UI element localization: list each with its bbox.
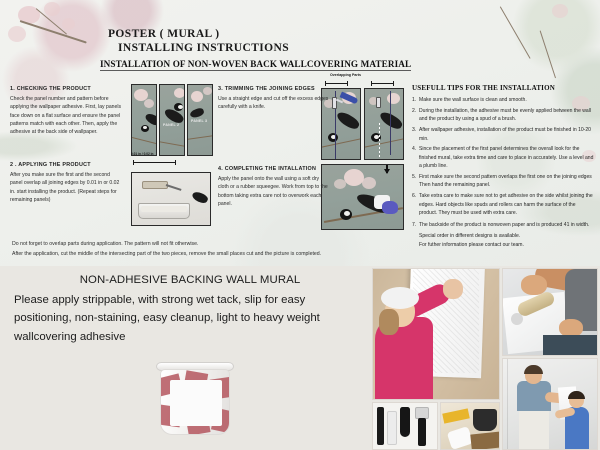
- photo-paste-bucket-and-tools: [440, 402, 500, 450]
- blossom-shape: [203, 87, 212, 95]
- blossom-shape: [387, 93, 400, 104]
- tip-item: 4.Since the placement of the first panel…: [412, 145, 594, 170]
- tip-number: 2.: [412, 107, 419, 115]
- photo-installation-tools-set: [372, 402, 438, 450]
- photo-collage: [372, 268, 598, 448]
- promo-headline: NON-ADHESIVE BACKING WALL MURAL: [14, 274, 366, 286]
- tip-number: 6.: [412, 192, 419, 200]
- tip-number: 1.: [412, 96, 419, 104]
- roller-handle-shape: [166, 184, 182, 191]
- tip-text: Take extra care to make sure not to get …: [419, 193, 593, 216]
- tip-number: 5.: [412, 173, 419, 181]
- photo-hands-rolling-wallpaper: [502, 268, 598, 356]
- step-2-body: After you make sure the first and the se…: [10, 171, 122, 204]
- twig-shape: [187, 135, 213, 140]
- tips-list: 1.Make sure the wall surface is clean an…: [412, 96, 594, 249]
- bird-marking-shape: [143, 126, 147, 129]
- twig-shape: [159, 141, 185, 148]
- woman-hand: [443, 279, 463, 299]
- diagram-panel-1: [131, 84, 157, 156]
- tool-brush: [377, 407, 384, 445]
- blossom-shape: [344, 169, 364, 186]
- tool-comb: [387, 411, 397, 445]
- bottom-section: NON-ADHESIVE BACKING WALL MURAL Please a…: [0, 266, 600, 450]
- wall-seam: [507, 359, 508, 450]
- blossom-shape: [362, 177, 376, 189]
- measure-tick: [133, 160, 134, 165]
- title-block: POSTER ( MURAL ) INSTALLING INSTRUCTIONS: [108, 28, 289, 54]
- overlapping-parts-label: Overlapping Parts: [330, 73, 361, 77]
- bird-body-shape: [335, 109, 361, 131]
- diagram-completing-installation: [321, 164, 404, 230]
- overlap-indicator-left: [324, 79, 350, 88]
- diagram-applying-product: [131, 172, 211, 226]
- step-1-body: Check the panel number and pattern befor…: [10, 95, 122, 136]
- step-3-block: 3. TRIMMING THE JOINING EDGES Use a stra…: [218, 86, 330, 112]
- poster-title-line1: POSTER ( MURAL ): [108, 28, 289, 40]
- blossom-shape: [174, 88, 185, 98]
- blossom-shape: [334, 179, 346, 189]
- tip-text: The backside of the product is nonwoven …: [419, 222, 589, 228]
- diagram-panel-2: PANEL 2: [159, 84, 185, 156]
- tip-text: Make sure the wall surface is clean and …: [419, 97, 527, 103]
- measure-tick: [175, 160, 176, 165]
- bird-body-shape: [189, 107, 205, 119]
- tip-number: 3.: [412, 126, 419, 134]
- tip-item: 6.Take extra care to make sure not to ge…: [412, 192, 594, 217]
- bird-body-shape: [191, 190, 209, 205]
- measure-tick: [371, 81, 372, 86]
- measure-bar: [325, 83, 347, 84]
- footer-notes: Do not forget to overlap parts during ap…: [12, 240, 321, 260]
- paste-bucket-image: [155, 362, 235, 436]
- tip-item: 5.First make sure the second pattern ove…: [412, 173, 594, 190]
- step-3-heading: 3. TRIMMING THE JOINING EDGES: [218, 86, 330, 92]
- step-2-block: 2 . APPLYING THE PRODUCT After you make …: [10, 162, 122, 204]
- tip-text: Since the placement of the first panel d…: [419, 146, 593, 169]
- branch-decoration: [539, 30, 556, 78]
- bucket-body: [160, 369, 230, 435]
- tip-item: 2.During the installation, the adhesive …: [412, 107, 594, 124]
- bird-marking-shape: [344, 211, 350, 216]
- tip-text: After wallpaper adhesive, installation o…: [419, 127, 591, 141]
- straight-edge-shape: [376, 97, 381, 108]
- diagram-panel-3: PANEL 3: [187, 84, 213, 156]
- promo-body: Please apply strippable, with strong wet…: [14, 291, 366, 346]
- poster-instruction-sheet: POSTER ( MURAL ) INSTALLING INSTRUCTIONS…: [0, 0, 600, 450]
- measure-bar: [133, 162, 175, 163]
- blossom-decoration: [552, 4, 568, 18]
- step-4-heading: 4. COMPLETING THE INTALLATION: [218, 166, 330, 172]
- step-4-block: 4. COMPLETING THE INTALLATION Apply the …: [218, 166, 330, 208]
- twig-shape: [321, 138, 361, 149]
- gloved-hand-shape: [382, 201, 398, 214]
- tips-footer-line: For futher information please contact ou…: [412, 241, 594, 249]
- overlap-measure-label: 0.01 in / 0.02 in: [131, 152, 154, 156]
- step-4-body: Apply the panel onto the wall using a so…: [218, 175, 330, 208]
- tip-item: 1.Make sure the wall surface is clean an…: [412, 96, 594, 104]
- panel-3-label: PANEL 3: [191, 119, 207, 123]
- child-hair: [568, 391, 585, 399]
- photo-man-and-child-hanging-mural: [502, 358, 598, 450]
- paste-pot: [473, 409, 497, 431]
- wood-board: [470, 431, 500, 450]
- measure-tick: [347, 81, 348, 86]
- poster-title-line2: INSTALLING INSTRUCTIONS: [118, 42, 289, 54]
- step-3-body: Use a straight edge and cut off the exce…: [218, 95, 330, 112]
- tip-item: 7.The backside of the product is nonwove…: [412, 221, 594, 229]
- overlap-measure-indicator: [131, 158, 177, 167]
- branch-decoration: [499, 6, 530, 59]
- footer-note-2: After the application, cut the middle of…: [12, 250, 321, 260]
- tips-footer-line: Special order in different designs is av…: [412, 232, 594, 240]
- tips-heading: USEFULL TIPS FOR THE INSTALLATION: [412, 84, 594, 92]
- paste-surface-shape: [141, 206, 187, 212]
- tip-number: 7.: [412, 221, 419, 229]
- woman-hair: [379, 309, 399, 335]
- blossom-shape: [191, 91, 203, 102]
- tip-text: First make sure the second pattern overl…: [419, 174, 592, 188]
- hand-upper: [521, 275, 547, 295]
- photo-woman-applying-wallpaper: [372, 268, 500, 400]
- paste-roller-shape: [142, 181, 168, 189]
- cut-guide-line: [390, 91, 391, 155]
- promo-block: NON-ADHESIVE BACKING WALL MURAL Please a…: [14, 274, 366, 346]
- blossom-decoration: [62, 18, 75, 30]
- blossom-decoration: [8, 26, 26, 42]
- woman-cap: [381, 287, 419, 309]
- work-table: [543, 335, 598, 356]
- tool-smoother: [400, 407, 410, 437]
- measure-bar: [371, 83, 393, 84]
- step-1-heading: 1. CHECKING THE PRODUCT: [10, 86, 122, 92]
- tip-number: 4.: [412, 145, 419, 153]
- measure-tick: [325, 81, 326, 86]
- step-1-block: 1. CHECKING THE PRODUCT Check the panel …: [10, 86, 122, 136]
- footer-note-1: Do not forget to overlap parts during ap…: [12, 240, 321, 250]
- diagram-trimming-right: [364, 88, 404, 160]
- bucket-label: [170, 380, 222, 426]
- poster-subtitle: INSTALLATION OF NON-WOVEN BACK WALLCOVER…: [100, 59, 411, 71]
- twig-shape: [132, 137, 157, 145]
- twig-shape: [364, 138, 404, 149]
- overlap-indicator-right: [370, 79, 396, 88]
- arrow-shaft: [386, 165, 388, 173]
- measure-tick: [393, 81, 394, 86]
- blossom-shape: [144, 99, 154, 108]
- instruction-sheet-panel: POSTER ( MURAL ) INSTALLING INSTRUCTIONS…: [0, 0, 600, 266]
- panel-2-label: PANEL 2: [163, 123, 179, 127]
- blossom-decoration: [44, 2, 60, 16]
- tip-item: 3.After wallpaper adhesive, installation…: [412, 126, 594, 143]
- tool-scraper-handle: [418, 418, 426, 446]
- bird-marking-shape: [178, 105, 183, 109]
- tips-block: USEFULL TIPS FOR THE INSTALLATION 1.Make…: [412, 84, 594, 252]
- tip-text: During the installation, the adhesive mu…: [419, 108, 591, 122]
- trim-dashed-line: [379, 123, 380, 157]
- man-trousers: [519, 407, 549, 450]
- step-2-heading: 2 . APPLYING THE PRODUCT: [10, 162, 122, 168]
